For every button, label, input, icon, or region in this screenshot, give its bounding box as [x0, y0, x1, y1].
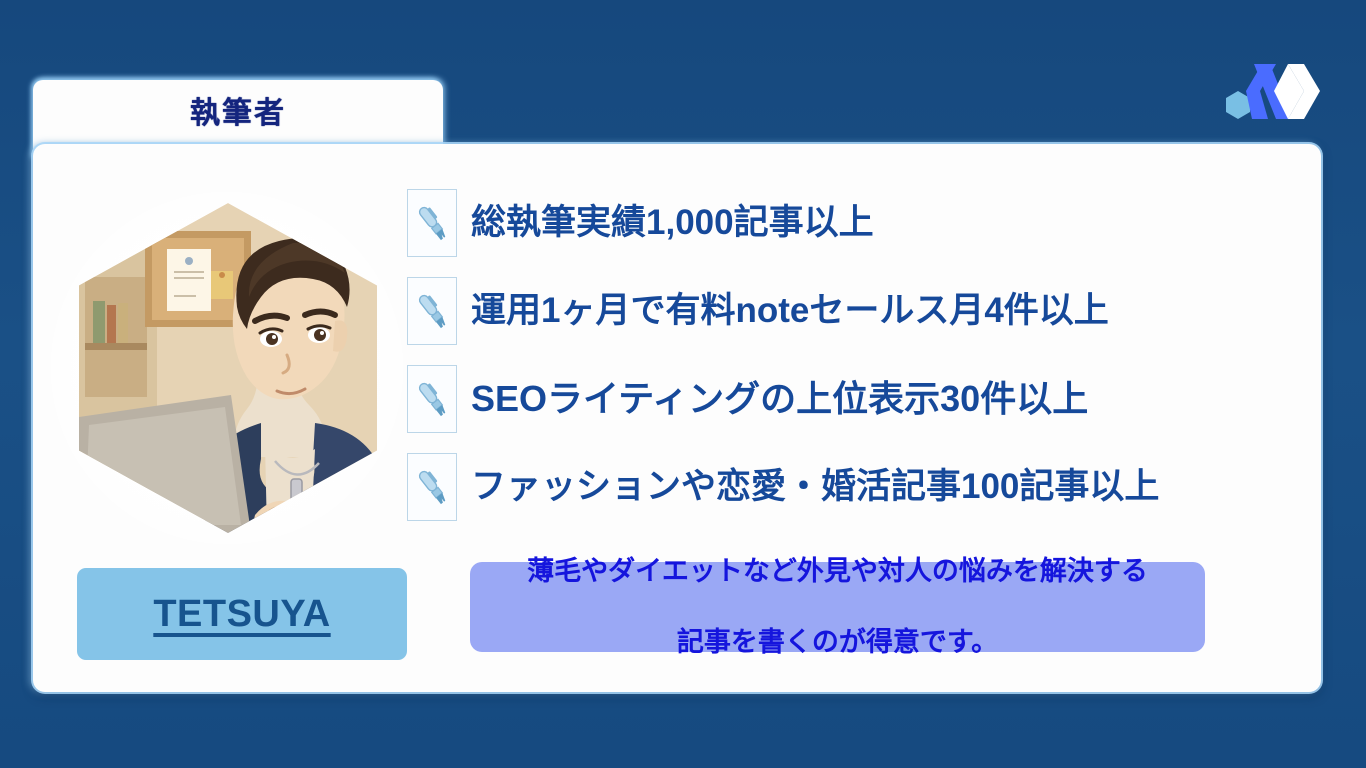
description-line-2: 記事を書くのが得意です。 [527, 625, 1148, 661]
pen-icon [415, 465, 449, 509]
list-item: 総執筆実績1,000記事以上 [407, 185, 1297, 261]
list-item-label: 運用1ヶ月で有料noteセールス月4件以上 [471, 293, 1109, 330]
pen-icon [415, 289, 449, 333]
achievement-list: 総執筆実績1,000記事以上 運用1ヶ月で有料noteセールス月4件以上 [407, 185, 1297, 537]
list-item: ファッションや恋愛・婚活記事100記事以上 [407, 449, 1297, 525]
description-box: 薄毛やダイエットなど外見や対人の悩みを解決する 記事を書くのが得意です。 [470, 562, 1205, 652]
description-text: 薄毛やダイエットなど外見や対人の悩みを解決する 記事を書くのが得意です。 [527, 554, 1148, 661]
pen-icon-box [407, 277, 457, 345]
profile-card: 執筆者 [33, 80, 1321, 692]
description-line-1: 薄毛やダイエットなど外見や対人の悩みを解決する [527, 554, 1148, 590]
list-item: 運用1ヶ月で有料noteセールス月4件以上 [407, 273, 1297, 349]
list-item-label: ファッションや恋愛・婚活記事100記事以上 [471, 469, 1159, 506]
page-title: 執筆者 [33, 88, 443, 132]
author-name: TETSUYA [153, 593, 330, 636]
list-item-label: SEOライティングの上位表示30件以上 [471, 380, 1088, 418]
pen-icon-box [407, 365, 457, 433]
pen-icon-box [407, 453, 457, 521]
pen-icon [415, 377, 449, 421]
list-item: SEOライティングの上位表示30件以上 [407, 361, 1297, 437]
list-item-label: 総執筆実績1,000記事以上 [471, 205, 874, 242]
pen-icon [415, 201, 449, 245]
pen-icon-box [407, 189, 457, 257]
author-name-badge: TETSUYA [77, 568, 407, 660]
